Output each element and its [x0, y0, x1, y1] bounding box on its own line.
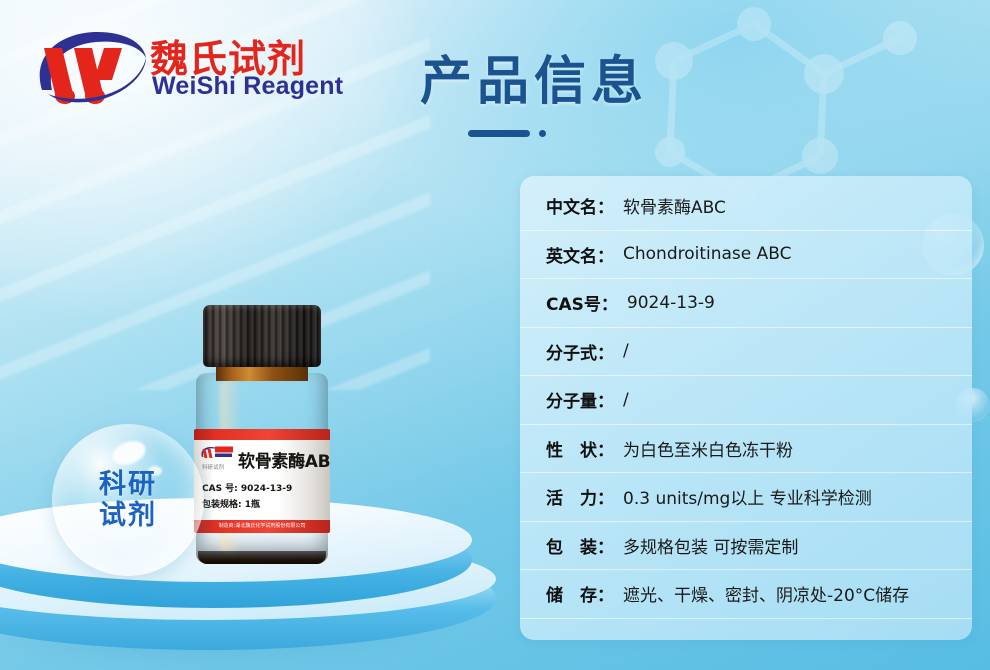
row-key: 中文名：: [546, 193, 614, 218]
bottle-label: 科研试剂 软骨素酶ABC CAS 号: 9024-13-9 包装规格: 1瓶 制…: [194, 429, 330, 533]
label-product-name: 软骨素酶ABC: [238, 447, 330, 472]
label-manufacturer: 制造商:湖北魏氏化学试剂股份有限公司: [194, 520, 330, 533]
table-row: 性 状： 为白色至米白色冻干粉: [520, 425, 972, 474]
bottle-cap: [203, 305, 321, 367]
table-row: 包 装： 多规格包装 可按需定制: [520, 522, 972, 571]
row-key: 分子式：: [546, 339, 614, 364]
label-spec: 包装规格: 1瓶: [202, 497, 260, 510]
row-key: 储 存：: [546, 581, 614, 606]
row-value: 为白色至米白色冻干粉: [623, 436, 793, 461]
table-row: 分子式： /: [520, 328, 972, 377]
row-key: CAS号：: [546, 290, 618, 315]
row-value: 多规格包装 可按需定制: [623, 533, 798, 558]
label-top-stripe: [194, 429, 330, 440]
table-row: 英文名： Chondroitinase ABC: [520, 231, 972, 280]
row-value: /: [623, 390, 629, 410]
title-underline: [468, 130, 780, 137]
label-cas: CAS 号: 9024-13-9: [202, 481, 292, 494]
table-row: 分子量： /: [520, 376, 972, 425]
badge-line-1: 科研: [99, 469, 157, 500]
table-row: 活 力： 0.3 units/mg以上 专业科学检测: [520, 473, 972, 522]
badge-line-2: 试剂: [99, 500, 157, 531]
row-value: 软骨素酶ABC: [623, 193, 726, 218]
page-title-block: 产品信息: [420, 56, 780, 137]
bottle-base: [198, 551, 326, 564]
brand-logo: 魏氏试剂 WeiShi Reagent: [30, 20, 320, 112]
page-title: 产品信息: [420, 56, 780, 108]
row-value: /: [623, 341, 629, 361]
bubble-highlight: [109, 437, 148, 469]
row-key: 活 力：: [546, 484, 614, 509]
product-info-panel: 中文名： 软骨素酶ABC 英文名： Chondroitinase ABC CAS…: [520, 176, 972, 640]
row-value: 0.3 units/mg以上 专业科学检测: [623, 484, 872, 509]
brand-name-en: WeiShi Reagent: [152, 72, 343, 101]
weishi-mini-logo-icon: [200, 445, 234, 460]
row-value: Chondroitinase ABC: [623, 244, 792, 264]
product-info-poster: 魏氏试剂 WeiShi Reagent 产品信息: [0, 0, 990, 670]
table-row: 储 存： 遮光、干燥、密封、阴凉处-20°C储存: [520, 570, 972, 619]
product-bottle: 科研试剂 软骨素酶ABC CAS 号: 9024-13-9 包装规格: 1瓶 制…: [186, 305, 338, 563]
row-key: 包 装：: [546, 533, 614, 558]
label-subtitle: 科研试剂: [202, 463, 224, 471]
row-value: 遮光、干燥、密封、阴凉处-20°C储存: [623, 581, 909, 606]
title-underline-dot: [539, 130, 546, 137]
research-reagent-badge: 科研 试剂: [52, 424, 204, 576]
row-key: 性 状：: [546, 436, 614, 461]
table-row: CAS号： 9024-13-9: [520, 279, 972, 328]
table-row: 中文名： 软骨素酶ABC: [520, 182, 972, 231]
row-value: 9024-13-9: [627, 293, 715, 313]
title-underline-bar: [468, 130, 530, 137]
weishi-w-logo-icon: [30, 24, 150, 108]
row-key: 分子量：: [546, 387, 614, 412]
row-key: 英文名：: [546, 242, 614, 267]
